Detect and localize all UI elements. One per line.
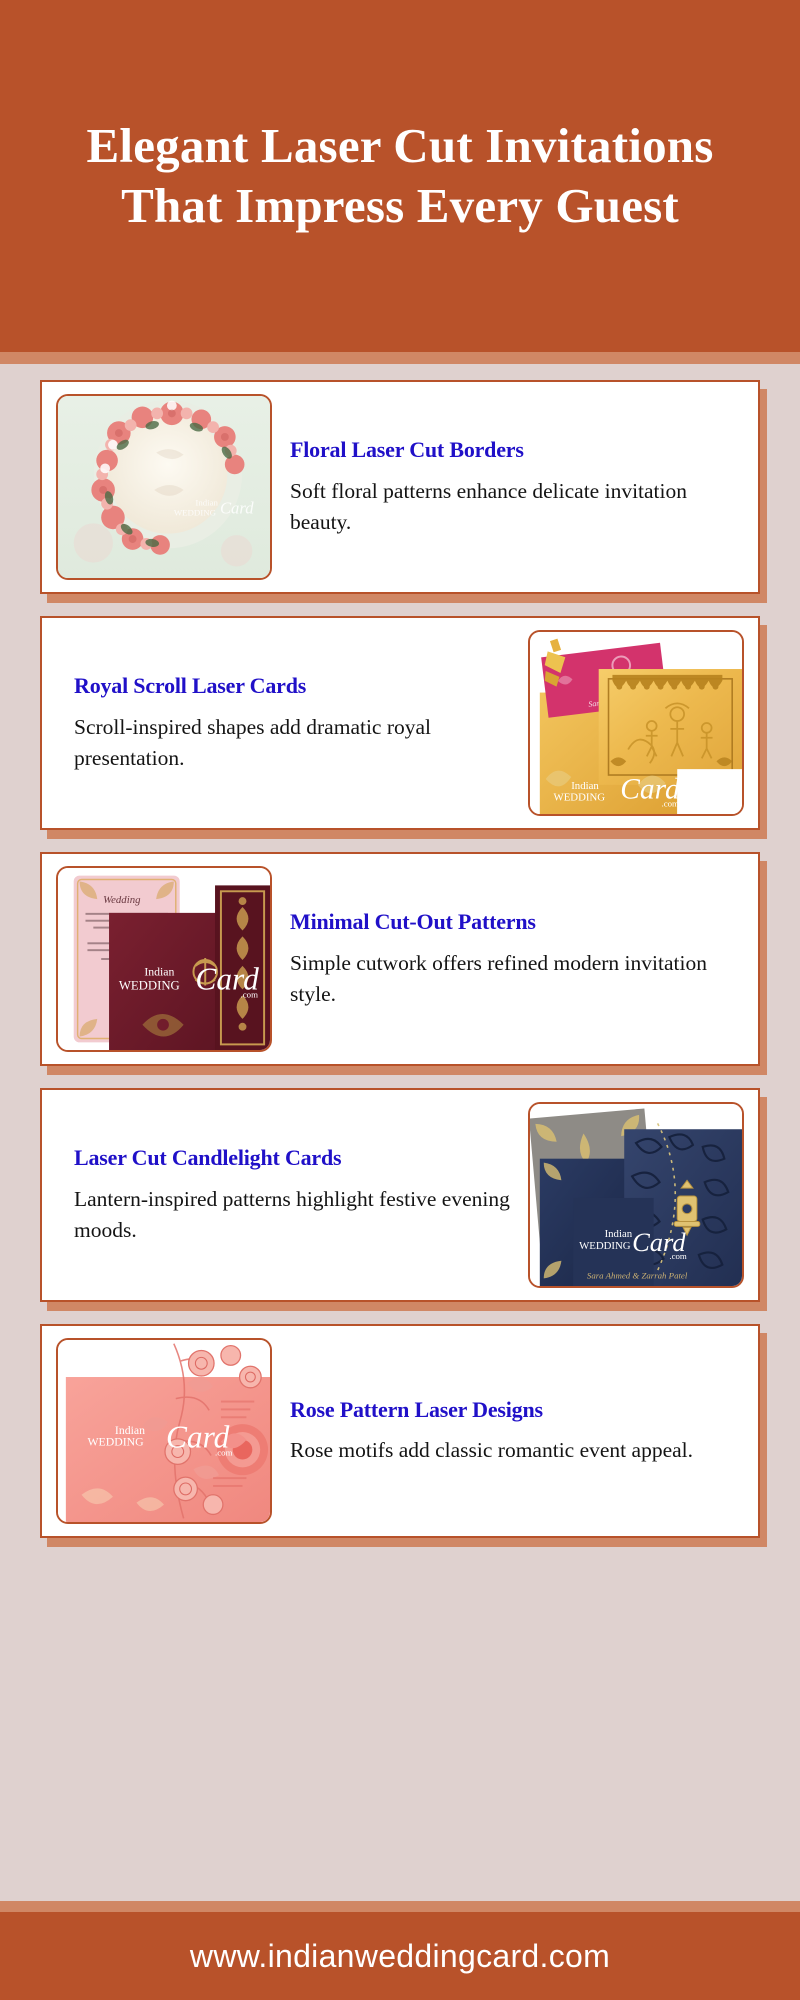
watermark-text: Indian [195,498,218,508]
card-text-2: Royal Scroll Laser Cards Scroll-inspired… [56,666,528,780]
card-description-1: Soft floral patterns enhance delicate in… [290,476,730,538]
svg-text:.com: .com [669,1251,687,1261]
feature-card-2[interactable]: Royal Scroll Laser Cards Scroll-inspired… [40,616,760,830]
header-banner: Elegant Laser Cut Invitations That Impre… [0,0,800,352]
card-list: Floral Laser Cut Borders Soft floral pat… [0,380,800,1560]
card-text-4: Laser Cut Candlelight Cards Lantern-insp… [56,1138,528,1252]
floral-wreath-illustration: Indian WEDDING Card [58,396,270,578]
svg-text:WEDDING: WEDDING [119,978,180,992]
svg-text:Card: Card [220,499,254,518]
svg-text:Wedding: Wedding [103,894,141,906]
card-text-5: Rose Pattern Laser Designs Rose motifs a… [272,1390,744,1473]
svg-text:WEDDING: WEDDING [554,792,606,804]
watermark-text: Indian [605,1228,633,1240]
card-title-4: Laser Cut Candlelight Cards [74,1144,512,1173]
royal-scroll-illustration: Sample [530,632,742,814]
footer-banner: www.indianweddingcard.com [0,1912,800,2000]
maroon-cutwork-illustration: Wedding [58,868,270,1050]
navy-lantern-laser-card-photo[interactable]: Indian WEDDING Card .com Sara Ahmed & Za… [528,1102,744,1288]
card-text-1: Floral Laser Cut Borders Soft floral pat… [272,430,744,544]
card-description-4: Lantern-inspired patterns highlight fest… [74,1184,512,1246]
infographic-page: Elegant Laser Cut Invitations That Impre… [0,0,800,2000]
svg-text:WEDDING: WEDDING [87,1436,144,1449]
card-title-2: Royal Scroll Laser Cards [74,672,512,701]
pink-rose-laser-card-photo[interactable]: Indian WEDDING Card .com [56,1338,272,1524]
royal-scroll-gold-card-photo[interactable]: Sample [528,630,744,816]
card-wrapper-3: Minimal Cut-Out Patterns Simple cutwork … [0,852,800,1066]
svg-text:.com: .com [241,989,259,999]
card-description-5: Rose motifs add classic romantic event a… [290,1435,730,1466]
svg-text:Sara Ahmed & Zarrah Patel: Sara Ahmed & Zarrah Patel [587,1270,688,1280]
website-url[interactable]: www.indianweddingcard.com [190,1938,610,1975]
card-title-5: Rose Pattern Laser Designs [290,1396,730,1425]
pink-rose-illustration: Indian WEDDING Card .com [58,1340,270,1522]
maroon-cutwork-card-photo[interactable]: Wedding [56,866,272,1052]
svg-text:.com: .com [662,798,680,808]
card-title-3: Minimal Cut-Out Patterns [290,908,730,937]
svg-text:WEDDING: WEDDING [174,507,217,517]
header-accent-strip [0,352,800,364]
svg-text:WEDDING: WEDDING [579,1240,631,1252]
card-wrapper-2: Royal Scroll Laser Cards Scroll-inspired… [0,616,800,830]
svg-text:.com: .com [215,1448,233,1458]
card-title-1: Floral Laser Cut Borders [290,436,730,465]
feature-card-5[interactable]: Rose Pattern Laser Designs Rose motifs a… [40,1324,760,1538]
floral-wreath-invitation-photo[interactable]: Indian WEDDING Card [56,394,272,580]
card-wrapper-4: Laser Cut Candlelight Cards Lantern-insp… [0,1088,800,1302]
footer-accent-strip [0,1901,800,1912]
feature-card-4[interactable]: Laser Cut Candlelight Cards Lantern-insp… [40,1088,760,1302]
feature-card-3[interactable]: Minimal Cut-Out Patterns Simple cutwork … [40,852,760,1066]
navy-lantern-illustration: Indian WEDDING Card .com Sara Ahmed & Za… [530,1104,742,1286]
feature-card-1[interactable]: Floral Laser Cut Borders Soft floral pat… [40,380,760,594]
card-description-3: Simple cutwork offers refined modern inv… [290,948,730,1010]
watermark-text: Indian [571,780,599,792]
watermark-text: Indian [144,966,174,979]
card-wrapper-5: Rose Pattern Laser Designs Rose motifs a… [0,1324,800,1538]
card-text-3: Minimal Cut-Out Patterns Simple cutwork … [272,902,744,1016]
card-wrapper-1: Floral Laser Cut Borders Soft floral pat… [0,380,800,594]
card-description-2: Scroll-inspired shapes add dramatic roya… [74,712,512,774]
page-title: Elegant Laser Cut Invitations That Impre… [30,116,770,236]
